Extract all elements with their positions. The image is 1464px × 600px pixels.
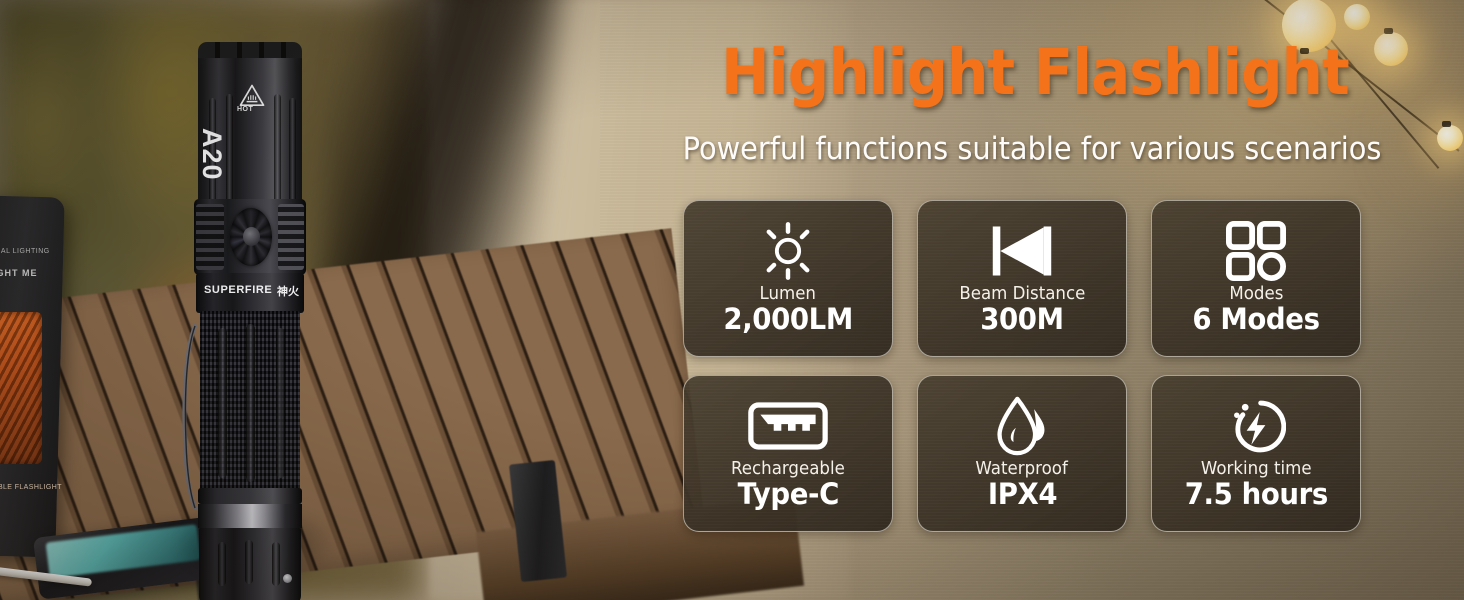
modes-grid-icon [1226, 219, 1286, 283]
feature-label: Working time [1201, 460, 1312, 478]
page-subtitle: Powerful functions suitable for various … [673, 131, 1391, 167]
feature-value: 6 Modes [1192, 304, 1319, 335]
usb-port-icon [748, 394, 828, 458]
sun-brightness-icon [757, 219, 819, 283]
feature-card-lumen[interactable]: Lumen 2,000LM [683, 200, 893, 357]
feature-value: Type-C [737, 479, 838, 510]
feature-card-rechargeable[interactable]: Rechargeable Type-C [683, 375, 893, 532]
feature-value: IPX4 [987, 479, 1056, 510]
feature-label: Beam Distance [959, 285, 1085, 303]
feature-card-waterproof[interactable]: Waterproof IPX4 [917, 375, 1127, 532]
feature-value: 2,000LM [723, 304, 852, 335]
feature-card-working-time[interactable]: Working time 7.5 hours [1151, 375, 1361, 532]
feature-label: Modes [1229, 285, 1283, 303]
feature-label: Lumen [760, 285, 816, 303]
feature-card-modes[interactable]: Modes 6 Modes [1151, 200, 1361, 357]
feature-label: Rechargeable [731, 460, 845, 478]
water-drop-icon [993, 394, 1051, 458]
feature-label: Waterproof [976, 460, 1068, 478]
feature-card-grid: Lumen 2,000LM Beam Distance 300M [683, 200, 1361, 542]
beam-distance-icon [989, 219, 1055, 283]
feature-value: 7.5 hours [1184, 479, 1327, 510]
battery-runtime-bolt-icon [1226, 394, 1286, 458]
feature-value: 300M [980, 304, 1063, 335]
product-banner: RE PROFESSIONAL LIGHTING HIGH BRIGHT ME … [0, 0, 1464, 600]
feature-card-beam-distance[interactable]: Beam Distance 300M [917, 200, 1127, 357]
page-title: Highlight Flashlight [718, 41, 1353, 104]
